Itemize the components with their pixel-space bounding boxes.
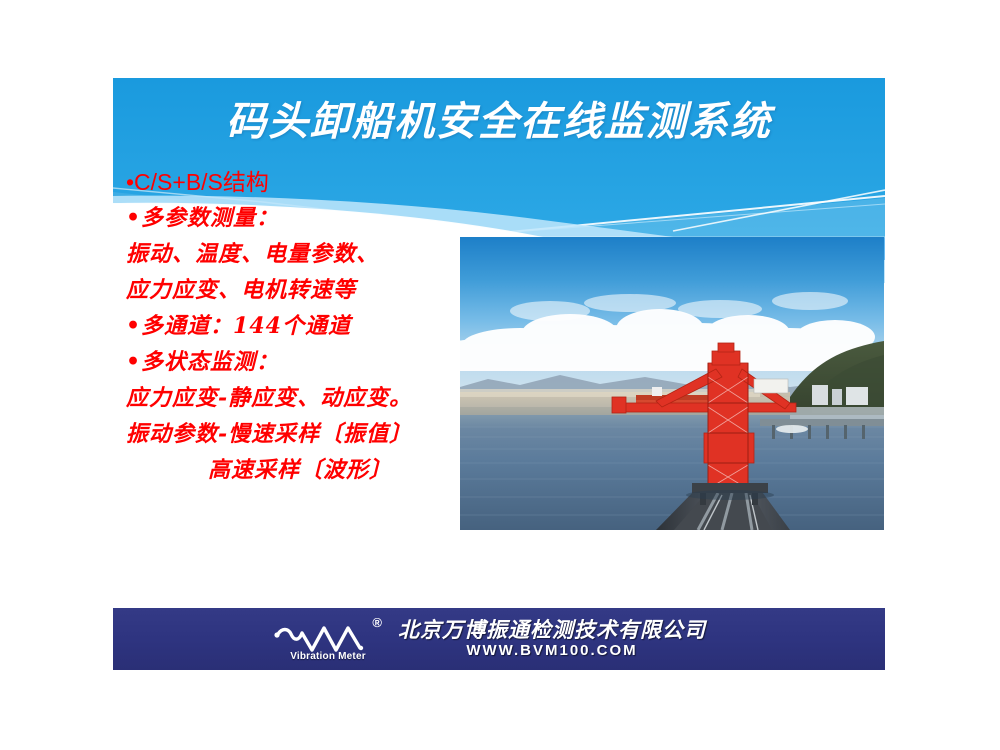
bullet-item-param-list-1: 振动、温度、电量参数、 bbox=[126, 236, 466, 272]
bullet-item-strain-detail: 应力应变-静应变、动应变。 bbox=[126, 380, 466, 416]
vibration-wave-icon bbox=[272, 616, 384, 656]
bullet-list: •C/S+B/S结构 •多参数测量： 振动、温度、电量参数、 应力应变、电机转速… bbox=[126, 168, 466, 488]
bullet-item-vibration-slow: 振动参数-慢速采样〔振值〕 bbox=[126, 416, 466, 452]
bullet-item-param-list-2: 应力应变、电机转速等 bbox=[126, 272, 466, 308]
footer-text-block: 北京万博振通检测技术有限公司 WWW.BVM100.COM bbox=[398, 619, 706, 659]
bullet-item-multi-channel: •多通道：144个通道 bbox=[126, 308, 466, 344]
registered-trademark-icon: ® bbox=[372, 616, 382, 629]
bullet-item-cs-bs: •C/S+B/S结构 bbox=[126, 168, 466, 200]
slide-canvas: 码头卸船机安全在线监测系统 •C/S+B/S结构 •多参数测量： 振动、温度、电… bbox=[0, 0, 1000, 750]
footer-content: ® Vibration Meter 北京万博振通检测技术有限公司 WWW.BVM… bbox=[272, 616, 706, 662]
bullet-item-multi-state: •多状态监测： bbox=[126, 344, 466, 380]
bullet-item-vibration-fast: 高速采样〔波形〕 bbox=[126, 452, 466, 488]
company-url[interactable]: WWW.BVM100.COM bbox=[466, 643, 637, 659]
vibration-meter-logo: ® Vibration Meter bbox=[272, 616, 384, 662]
bullet-item-multi-param: •多参数测量： bbox=[126, 200, 466, 236]
logo-wordmark: Vibration Meter bbox=[278, 651, 378, 662]
footer-bar: ® Vibration Meter 北京万博振通检测技术有限公司 WWW.BVM… bbox=[113, 608, 885, 670]
page-title: 码头卸船机安全在线监测系统 bbox=[113, 96, 885, 147]
company-name: 北京万博振通检测技术有限公司 bbox=[398, 619, 706, 641]
port-ship-unloader-photo bbox=[460, 237, 884, 530]
